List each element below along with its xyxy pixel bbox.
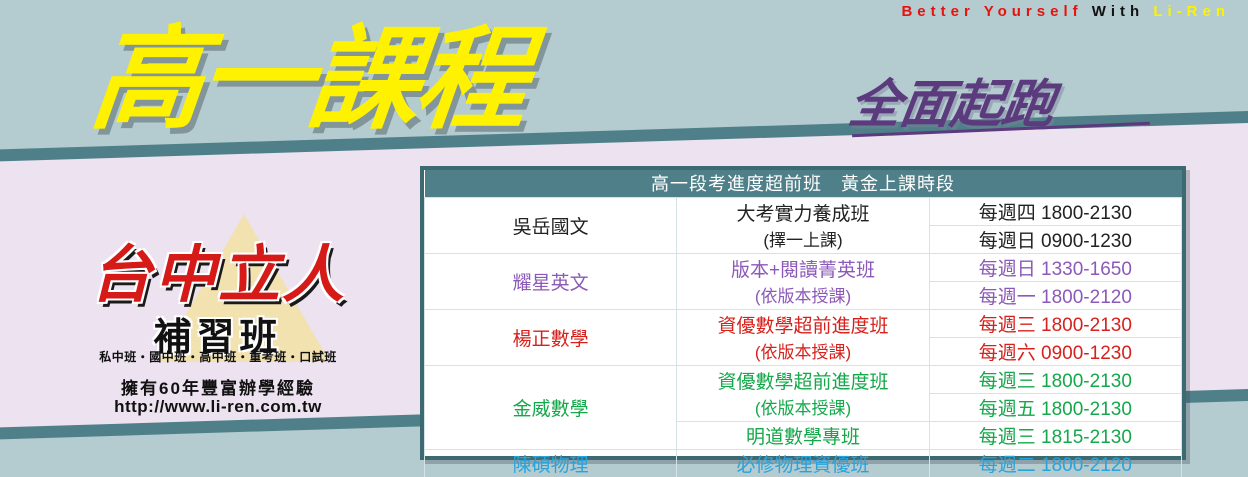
tagline-red: Better Yourself bbox=[901, 3, 1082, 20]
course-cell: 必修物理資優班 bbox=[677, 449, 929, 477]
time-cell: 每週日 1330-1650 bbox=[929, 253, 1181, 281]
table-row: 耀星英文版本+閱讀菁英班(依版本授課)每週日 1330-1650 bbox=[425, 253, 1182, 281]
course-name: 大考實力養成班 bbox=[736, 204, 869, 225]
logo-experience: 擁有60年豐富辦學經驗 bbox=[48, 374, 388, 399]
time-cell: 每週六 0900-1230 bbox=[929, 337, 1181, 365]
tagline-black: With bbox=[1092, 3, 1144, 20]
table-row: 楊正數學資優數學超前進度班(依版本授課)每週三 1800-2130 bbox=[425, 309, 1182, 337]
course-name: 資優數學超前進度班 bbox=[717, 316, 888, 337]
course-name: 版本+閱讀菁英班 bbox=[731, 260, 875, 281]
schedule-header-title: 高一段考進度超前班 黃金上課時段 bbox=[425, 170, 1182, 197]
course-cell: 資優數學超前進度班(依版本授課) bbox=[677, 365, 929, 421]
teacher-cell: 耀星英文 bbox=[425, 253, 677, 309]
time-cell: 每週三 1800-2130 bbox=[929, 365, 1181, 393]
time-cell: 每週日 0900-1230 bbox=[929, 225, 1181, 253]
tagline-yellow: Li-Ren bbox=[1153, 3, 1230, 20]
poster-canvas: Better Yourself With Li-Ren 高一課程 全面起跑 台中… bbox=[0, 0, 1248, 477]
teacher-cell: 吳岳國文 bbox=[425, 197, 677, 253]
teacher-cell: 陳碩物理 bbox=[425, 449, 677, 477]
time-cell: 每週五 1800-2130 bbox=[929, 393, 1181, 421]
schedule-table: 高一段考進度超前班 黃金上課時段 吳岳國文大考實力養成班(擇一上課)每週四 18… bbox=[420, 166, 1186, 460]
table-header-row: 高一段考進度超前班 黃金上課時段 bbox=[425, 170, 1182, 197]
page-subtitle: 全面起跑 bbox=[845, 62, 1060, 137]
course-note: (擇一上課) bbox=[677, 226, 928, 251]
teacher-cell: 楊正數學 bbox=[425, 309, 677, 365]
time-cell: 每週二 1800-2120 bbox=[929, 449, 1181, 477]
brand-logo: 台中立人 補習班 私中班・國中班・高中班・重考班・口試班 擁有60年豐富辦學經驗… bbox=[48, 222, 388, 418]
teacher-cell: 金威數學 bbox=[425, 365, 677, 449]
logo-name: 台中立人 bbox=[48, 224, 388, 314]
table-row: 吳岳國文大考實力養成班(擇一上課)每週四 1800-2130 bbox=[425, 197, 1182, 225]
course-cell-extra: 明道數學專班 bbox=[677, 421, 929, 449]
course-name: 資優數學超前進度班 bbox=[717, 372, 888, 393]
course-note: (依版本授課) bbox=[677, 282, 928, 307]
logo-website-url: http://www.li-ren.com.tw bbox=[48, 397, 388, 417]
table-row: 金威數學資優數學超前進度班(依版本授課)每週三 1800-2130 bbox=[425, 365, 1182, 393]
course-cell: 大考實力養成班(擇一上課) bbox=[677, 197, 929, 253]
time-cell: 每週三 1800-2130 bbox=[929, 309, 1181, 337]
table-row: 陳碩物理必修物理資優班每週二 1800-2120 bbox=[425, 449, 1182, 477]
logo-class-list: 私中班・國中班・高中班・重考班・口試班 bbox=[48, 348, 388, 365]
time-cell: 每週一 1800-2120 bbox=[929, 281, 1181, 309]
time-cell: 每週四 1800-2130 bbox=[929, 197, 1181, 225]
course-cell: 資優數學超前進度班(依版本授課) bbox=[677, 309, 929, 365]
course-note: (依版本授課) bbox=[677, 394, 928, 419]
course-note: (依版本授課) bbox=[677, 338, 928, 363]
course-cell: 版本+閱讀菁英班(依版本授課) bbox=[677, 253, 929, 309]
time-cell: 每週三 1815-2130 bbox=[929, 421, 1181, 449]
course-name: 必修物理資優班 bbox=[736, 455, 869, 476]
page-title: 高一課程 bbox=[85, 16, 531, 145]
